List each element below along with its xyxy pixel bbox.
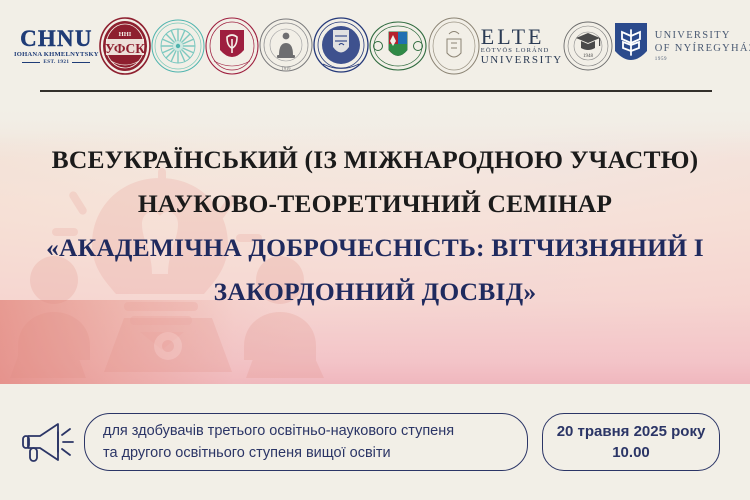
page-title-line-3: «АКАДЕМІЧНА ДОБРОЧЕСНІСТЬ: ВІТЧИЗНЯНИЙ І — [0, 226, 750, 270]
seminar-poster: CHNU IOHANA KHMELNYTSKY EST. 1921 ННІ УФ… — [0, 0, 750, 500]
crimson-shield-seal-icon — [205, 17, 259, 75]
crest-oval-seal-icon — [427, 17, 481, 75]
graduation-cap-seal-icon: 1948 — [563, 19, 613, 73]
logo-chnu-year: EST. 1921 — [43, 60, 69, 65]
page-title-line-2: НАУКОВО-ТЕОРЕТИЧНИЙ СЕМІНАР — [0, 182, 750, 226]
audience-line-1: для здобувачів третього освітньо-науково… — [103, 420, 509, 442]
logo-oval-coat-of-arms-seal — [369, 18, 427, 74]
logo-graduation-cap-seal: 1948 — [563, 19, 613, 73]
logo-chnu-main: CHNU — [20, 27, 93, 50]
svg-text:УФСК: УФСК — [105, 41, 145, 56]
poster-footer-bar: для здобувачів третього освітньо-науково… — [0, 398, 750, 486]
event-time: 10.00 — [612, 442, 650, 463]
nyiregyhaza-shield-icon — [613, 21, 649, 71]
audience-callout-box: для здобувачів третього освітньо-науково… — [84, 413, 528, 471]
logo-navy-shield-seal — [313, 17, 369, 75]
logo-nyiregyhaza: UNIVERSITY OF NYÍREGYHÁZA 1959 — [613, 21, 750, 71]
navy-shield-seal-icon — [313, 17, 369, 75]
logo-teal-wheel-seal — [151, 18, 205, 74]
oval-coat-of-arms-seal-icon — [369, 18, 427, 74]
logo-elte-sub2: UNIVERSITY — [481, 55, 563, 67]
date-time-box: 20 травня 2025 року 10.00 — [542, 413, 720, 471]
logo-chnu-sub: IOHANA KHMELNYTSKY — [14, 52, 99, 59]
header-divider — [40, 90, 712, 92]
logo-grey-figure-seal: 1919 — [259, 17, 313, 75]
page-title-line-1: ВСЕУКРАЇНСЬКИЙ (ІЗ МІЖНАРОДНОЮ УЧАСТЮ) — [0, 138, 750, 182]
logo-elte: ELTE EÖTVÖS LORÁND UNIVERSITY — [481, 25, 563, 66]
grey-figure-seal-icon: 1919 — [259, 17, 313, 75]
audience-line-2: та другого освітнього ступеня вищої осві… — [103, 442, 509, 464]
logo-nyiregyhaza-line2: OF NYÍREGYHÁZA — [655, 42, 750, 55]
rule-right-icon — [72, 62, 90, 63]
ufsk-seal-icon: ННІ УФСК — [99, 17, 151, 75]
megaphone-icon — [20, 418, 78, 466]
logo-nyiregyhaza-est: 1959 — [655, 57, 750, 63]
partner-logos-strip: CHNU IOHANA KHMELNYTSKY EST. 1921 ННІ УФ… — [0, 0, 750, 92]
logo-chnu-established: EST. 1921 — [22, 60, 90, 65]
svg-text:1948: 1948 — [583, 54, 594, 59]
logo-elte-main: ELTE — [481, 25, 563, 48]
poster-title-block: ВСЕУКРАЇНСЬКИЙ (ІЗ МІЖНАРОДНОЮ УЧАСТЮ) Н… — [0, 138, 750, 314]
teal-wheel-seal-icon — [151, 18, 205, 74]
logo-ufsk: ННІ УФСК — [99, 17, 151, 75]
page-title-line-4: ЗАКОРДОННИЙ ДОСВІД» — [0, 270, 750, 314]
svg-text:1919: 1919 — [281, 66, 291, 71]
logo-nyiregyhaza-line1: UNIVERSITY — [655, 29, 750, 42]
rule-left-icon — [22, 62, 40, 63]
logo-crimson-shield-seal — [205, 17, 259, 75]
svg-text:ННІ: ННІ — [118, 31, 131, 38]
event-date: 20 травня 2025 року — [557, 421, 706, 442]
logo-crest-oval-seal — [427, 17, 481, 75]
logo-chnu: CHNU IOHANA KHMELNYTSKY EST. 1921 — [14, 27, 99, 66]
